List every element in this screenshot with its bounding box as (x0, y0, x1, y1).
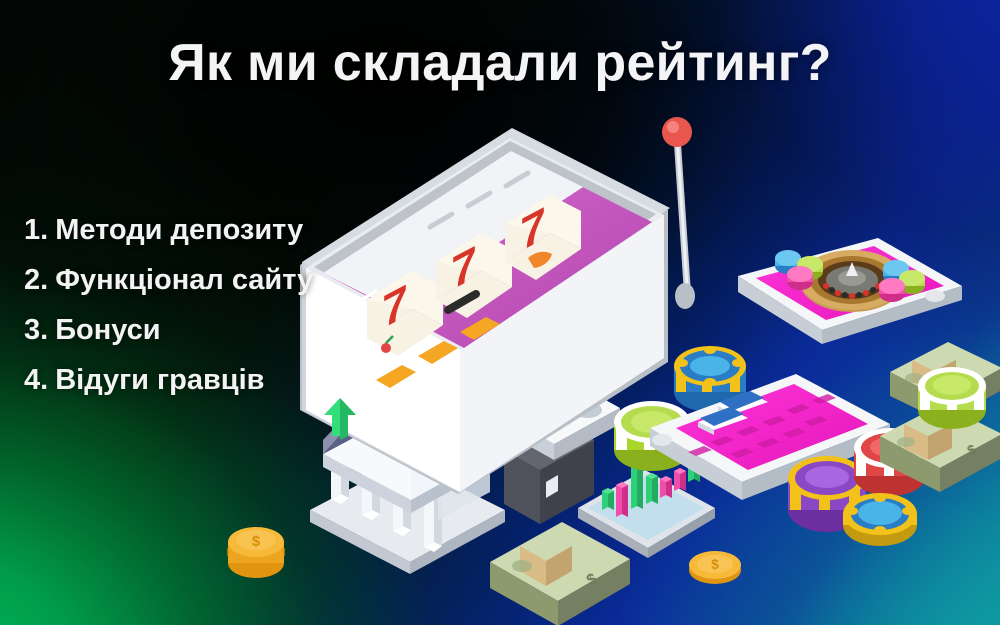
list-item-label: Методи депозиту (55, 214, 303, 246)
list-item-label: Бонуси (55, 314, 160, 346)
phone-roulette (738, 238, 962, 344)
gold-coin-stack: $ (228, 527, 284, 578)
list-item-number: 1. (24, 214, 48, 246)
criteria-list: 1.Методи депозиту 2.Функціонал сайту 3.Б… (24, 216, 313, 416)
list-item-number: 4. (24, 364, 48, 396)
list-item: 1.Методи депозиту (24, 216, 313, 245)
list-item-number: 3. (24, 314, 48, 346)
list-item-label: Функціонал сайту (55, 264, 313, 296)
chip-stack-green (918, 367, 986, 429)
chip-blue-yellow-single (843, 493, 917, 546)
svg-text:$: $ (252, 533, 261, 550)
list-item-number: 2. (24, 264, 48, 296)
gold-coin-single: $ (689, 551, 741, 584)
svg-text:$: $ (711, 556, 719, 572)
list-item: 4.Відуги гравців (24, 366, 313, 395)
list-item-label: Відуги гравців (55, 364, 264, 396)
cash-stack-center: $ (490, 522, 630, 625)
page-title: Як ми складали рейтинг? (0, 33, 1000, 93)
slide-canvas: $ $ (0, 0, 1000, 625)
list-item: 2.Функціонал сайту (24, 266, 313, 295)
list-item: 3.Бонуси (24, 316, 313, 345)
